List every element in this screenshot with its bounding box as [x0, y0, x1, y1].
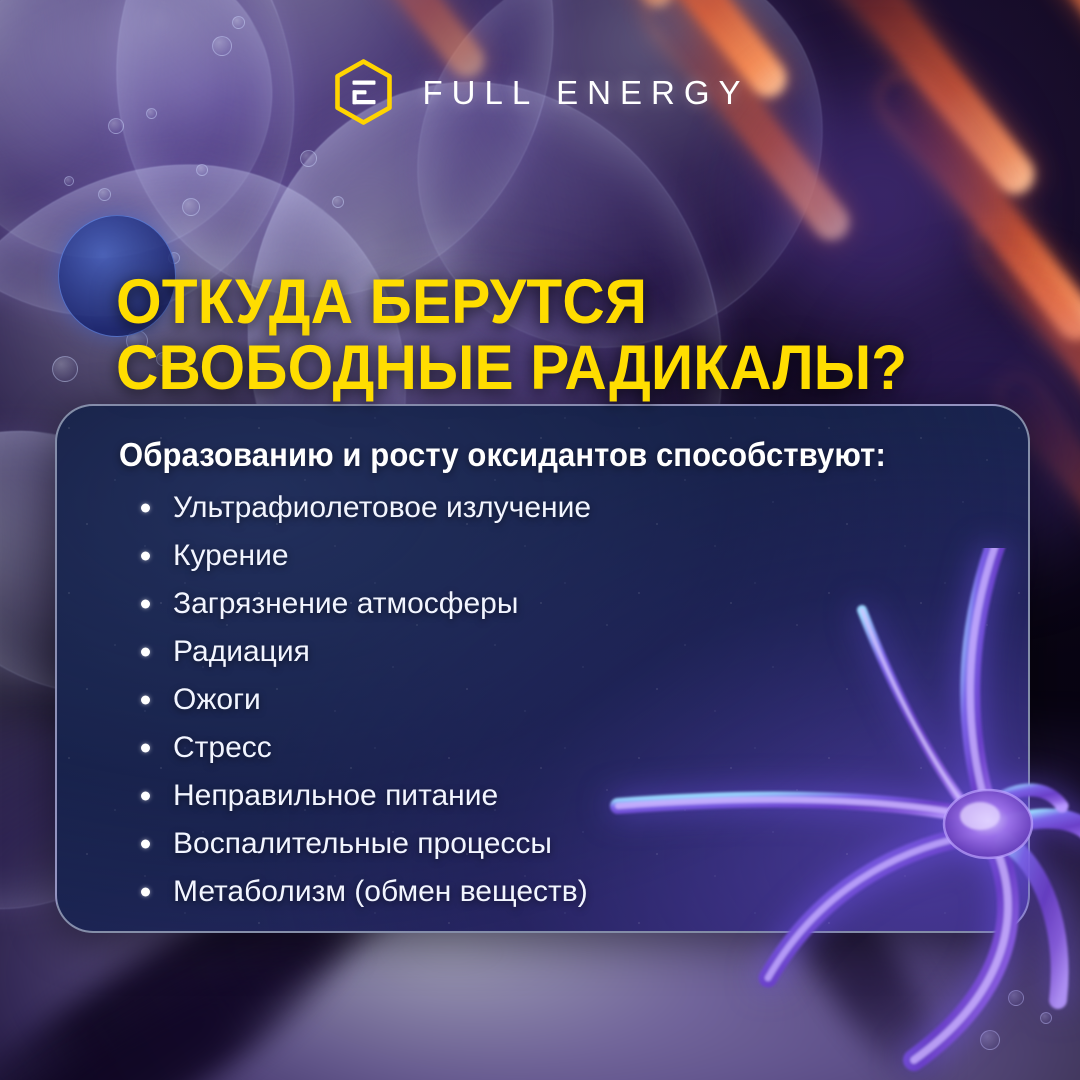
list-item: Загрязнение атмосферы — [137, 580, 994, 628]
page-title: ОТКУДА БЕРУТСЯ СВОБОДНЫЕ РАДИКАЛЫ? — [116, 270, 907, 401]
list-item: Ожоги — [137, 676, 994, 724]
list-item: Курение — [137, 532, 994, 580]
card-heading: Образованию и росту оксидантов способств… — [119, 436, 942, 474]
content-card: Образованию и росту оксидантов способств… — [55, 404, 1030, 933]
hexagon-f-logo-icon — [330, 58, 396, 126]
list-item: Стресс — [137, 724, 994, 772]
list-item: Радиация — [137, 628, 994, 676]
infographic-poster: FULL ENERGY ОТКУДА БЕРУТСЯ СВОБОДНЫЕ РАД… — [0, 0, 1080, 1080]
causes-list: Ультрафиолетовое излучение Курение Загря… — [119, 484, 994, 916]
list-item: Ультрафиолетовое излучение — [137, 484, 994, 532]
brand-logo: FULL ENERGY — [330, 58, 749, 126]
list-item: Воспалительные процессы — [137, 820, 994, 868]
list-item: Метаболизм (обмен веществ) — [137, 868, 994, 916]
brand-name: FULL ENERGY — [422, 76, 749, 109]
list-item: Неправильное питание — [137, 772, 994, 820]
